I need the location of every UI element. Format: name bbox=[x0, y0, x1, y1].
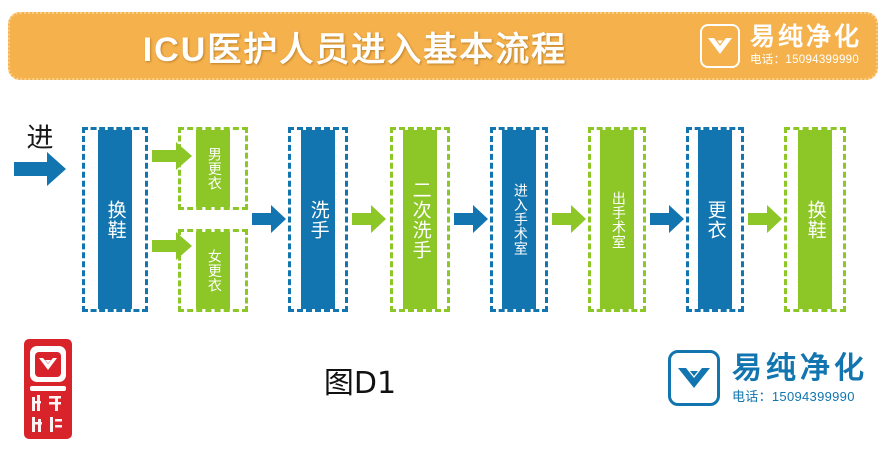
arrow-to-gengyi bbox=[650, 205, 684, 233]
footer-brand: 易纯净化 电话：15094399990 bbox=[668, 350, 868, 406]
flow-diagram: 进 换鞋 男更衣 女更衣 洗手 二次洗手 进入手术室 bbox=[0, 110, 886, 320]
arrow-to-huanxie-2 bbox=[748, 205, 782, 233]
brand-name: 易纯净化 bbox=[732, 354, 868, 384]
step-label: 出手术室 bbox=[600, 130, 634, 309]
w-mark-icon bbox=[700, 24, 740, 68]
brand-phone: 电话：15094399990 bbox=[750, 55, 859, 67]
step-box-xishou: 洗手 bbox=[288, 127, 348, 312]
step-label: 换鞋 bbox=[798, 130, 832, 309]
step-label: 女更衣 bbox=[196, 232, 230, 309]
arrow-to-chu-shoushushi bbox=[552, 205, 586, 233]
arrow-to-jinru-shoushushi bbox=[454, 205, 488, 233]
brand-name: 易纯净化 bbox=[750, 25, 862, 50]
entry-label: 进 bbox=[12, 116, 68, 155]
step-label: 男更衣 bbox=[196, 130, 230, 207]
red-seal-stamp-icon bbox=[22, 337, 74, 441]
step-box-nangengyi: 男更衣 bbox=[178, 127, 248, 210]
page-title: ICU医护人员进入基本流程 bbox=[10, 14, 700, 78]
step-box-huanxie-2: 换鞋 bbox=[784, 127, 846, 312]
step-box-chushoushushi: 出手术室 bbox=[588, 127, 646, 312]
step-label: 洗手 bbox=[301, 130, 335, 309]
step-box-ercixishou: 二次洗手 bbox=[390, 127, 450, 312]
brand-phone: 电话：15094399990 bbox=[732, 390, 855, 403]
figure-caption: 图D1 bbox=[280, 358, 440, 402]
step-label: 换鞋 bbox=[98, 130, 132, 309]
step-label: 更衣 bbox=[698, 130, 732, 309]
arrow-to-xishou bbox=[252, 205, 286, 233]
w-mark-icon bbox=[668, 350, 720, 406]
header-brand: 易纯净化 电话：15094399990 bbox=[700, 24, 862, 68]
header-brand-text: 易纯净化 电话：15094399990 bbox=[750, 25, 862, 67]
step-box-nvgengyi: 女更衣 bbox=[178, 229, 248, 312]
header-banner: ICU医护人员进入基本流程 易纯净化 电话：15094399990 bbox=[8, 12, 878, 80]
step-box-jinrushoushushi: 进入手术室 bbox=[490, 127, 548, 312]
step-label: 二次洗手 bbox=[403, 130, 437, 309]
arrow-to-erci-xishou bbox=[352, 205, 386, 233]
arrow-entry bbox=[14, 152, 66, 186]
footer-brand-text: 易纯净化 电话：15094399990 bbox=[732, 354, 868, 403]
step-box-huanxie-1: 换鞋 bbox=[82, 127, 148, 312]
step-box-gengyi: 更衣 bbox=[686, 127, 744, 312]
step-label: 进入手术室 bbox=[502, 130, 536, 309]
